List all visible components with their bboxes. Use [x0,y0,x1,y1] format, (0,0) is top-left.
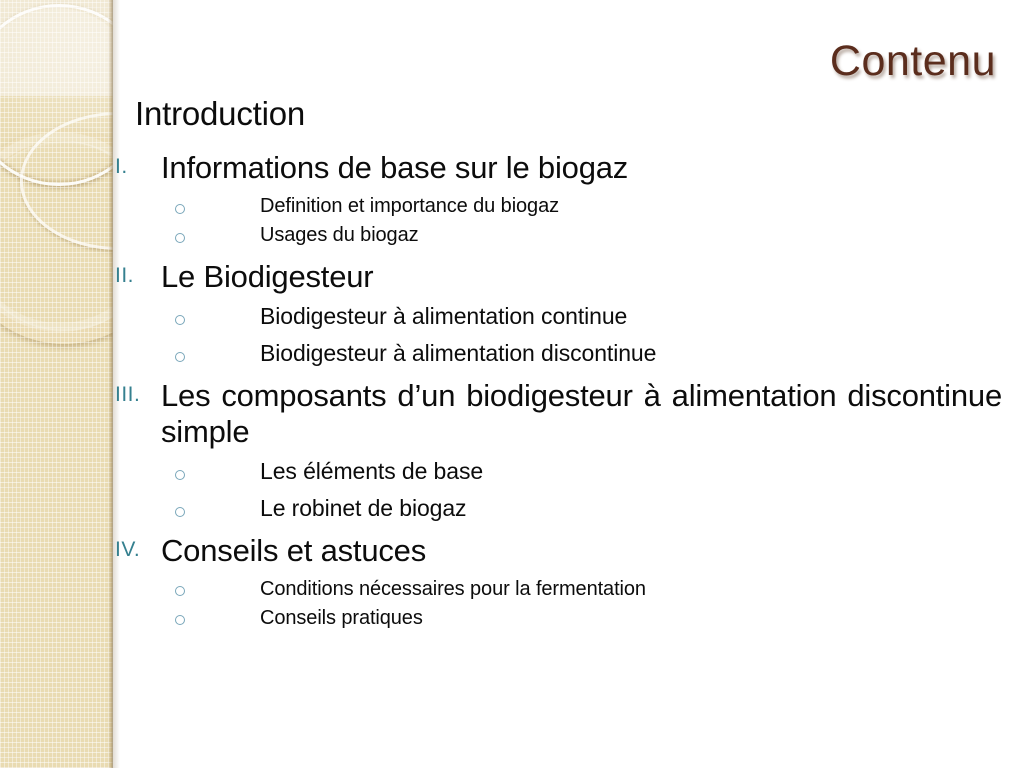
decorative-side-band [0,0,113,768]
subitem-label: Conseils pratiques [203,608,1024,628]
spacer [113,450,1024,460]
outline-subitem: Usages du biogaz [113,225,1024,246]
page-title: Contenu [830,40,996,83]
subitem-label: Biodigesteur à alimentation discontinue [203,342,1024,365]
subitem-label: Conditions nécessaires pour la fermentat… [203,579,1024,599]
outline-section-4: IV. Conseils et astuces [113,533,1024,569]
outline-section-2: II. Le Biodigesteur [113,259,1024,295]
subitem-label: Les éléments de base [203,460,1024,483]
outline-subitem: Conseils pratiques [113,608,1024,629]
outline-subitem: Les éléments de base [113,460,1024,483]
section-heading: Informations de base sur le biogaz [161,150,1024,186]
spacer [113,133,1024,150]
section-heading: Les composants d’un biodigesteur à alime… [161,378,1024,450]
outline-section-3: III. Les composants d’un biodigesteur à … [113,378,1024,450]
section-heading: Le Biodigesteur [161,259,1024,295]
bullet-circle-icon [113,579,203,600]
spacer [113,246,1024,259]
outline-subitem: Definition et importance du biogaz [113,196,1024,217]
spacer [113,365,1024,378]
section-numeral: I. [113,150,161,183]
outline-subitem: Biodigesteur à alimentation continue [113,305,1024,328]
bullet-circle-icon [113,460,203,483]
bullet-circle-icon [113,608,203,629]
bullet-circle-icon [113,196,203,217]
subitem-label: Definition et importance du biogaz [203,196,1024,216]
spacer [113,186,1024,196]
spacer [113,600,1024,608]
bullet-circle-icon [113,225,203,246]
outline-content: Introduction I. Informations de base sur… [113,96,1024,768]
section-numeral: II. [113,259,161,292]
section-numeral: IV. [113,533,161,566]
section-heading: Conseils et astuces [161,533,1024,569]
outline-subitem: Le robinet de biogaz [113,497,1024,520]
section-numeral: III. [113,378,161,411]
outline-item-introduction: Introduction [113,96,1024,133]
outline-section-1: I. Informations de base sur le biogaz [113,150,1024,186]
bullet-circle-icon [113,305,203,328]
spacer [113,217,1024,225]
subitem-label: Usages du biogaz [203,225,1024,245]
subitem-label: Le robinet de biogaz [203,497,1024,520]
bullet-circle-icon [113,497,203,520]
bullet-circle-icon [113,342,203,365]
spacer [113,520,1024,533]
spacer [113,483,1024,497]
band-texture [0,0,113,768]
outline-subitem: Conditions nécessaires pour la fermentat… [113,579,1024,600]
subitem-label: Biodigesteur à alimentation continue [203,305,1024,328]
outline-subitem: Biodigesteur à alimentation discontinue [113,342,1024,365]
